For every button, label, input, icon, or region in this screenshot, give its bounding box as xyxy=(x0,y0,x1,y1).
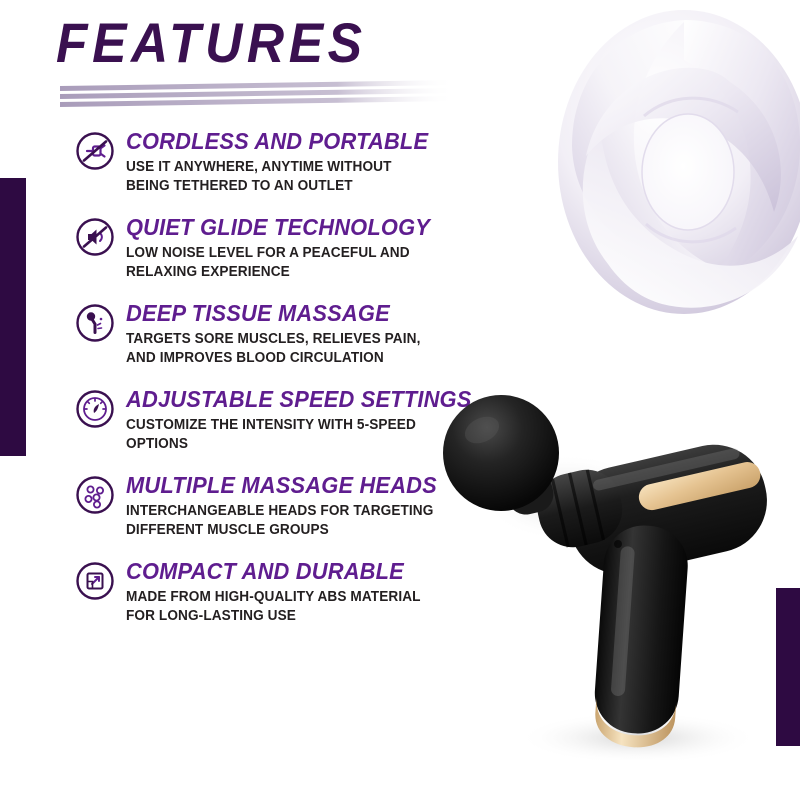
mute-speaker-icon xyxy=(74,216,116,258)
title-underline-rules xyxy=(58,78,458,112)
feature-text: COMPACT AND DURABLE MADE FROM HIGH-QUALI… xyxy=(126,558,474,626)
feature-item: DEEP TISSUE MASSAGE TARGETS SORE MUSCLES… xyxy=(74,300,474,368)
abstract-swirl-graphic xyxy=(548,0,800,326)
massage-gun-icon xyxy=(74,302,116,344)
no-cord-icon xyxy=(74,130,116,172)
speedometer-icon xyxy=(74,388,116,430)
feature-heading: DEEP TISSUE MASSAGE xyxy=(126,301,457,326)
feature-description: MADE FROM HIGH-QUALITY ABS MATERIAL FOR … xyxy=(126,588,436,626)
feature-description: LOW NOISE LEVEL FOR A PEACEFUL AND RELAX… xyxy=(126,244,436,282)
compact-resize-icon xyxy=(74,560,116,602)
right-accent-bar xyxy=(776,588,800,746)
features-infographic: FEATURES xyxy=(0,0,800,800)
page-title-block: FEATURES xyxy=(56,14,476,72)
feature-item: ADJUSTABLE SPEED SETTINGS CUSTOMIZE THE … xyxy=(74,386,474,454)
feature-heading: QUIET GLIDE TECHNOLOGY xyxy=(126,215,457,240)
feature-text: DEEP TISSUE MASSAGE TARGETS SORE MUSCLES… xyxy=(126,300,474,368)
feature-list: CORDLESS AND PORTABLE USE IT ANYWHERE, A… xyxy=(74,128,474,644)
feature-description: CUSTOMIZE THE INTENSITY WITH 5-SPEED OPT… xyxy=(126,416,436,454)
feature-text: CORDLESS AND PORTABLE USE IT ANYWHERE, A… xyxy=(126,128,474,196)
feature-heading: CORDLESS AND PORTABLE xyxy=(126,129,457,154)
left-accent-bar xyxy=(0,178,26,456)
feature-heading: COMPACT AND DURABLE xyxy=(126,559,457,584)
feature-item: COMPACT AND DURABLE MADE FROM HIGH-QUALI… xyxy=(74,558,474,626)
feature-description: TARGETS SORE MUSCLES, RELIEVES PAIN, AND… xyxy=(126,330,436,368)
feature-text: QUIET GLIDE TECHNOLOGY LOW NOISE LEVEL F… xyxy=(126,214,474,282)
feature-text: MULTIPLE MASSAGE HEADS INTERCHANGEABLE H… xyxy=(126,472,474,540)
massage-heads-icon xyxy=(74,474,116,516)
feature-text: ADJUSTABLE SPEED SETTINGS CUSTOMIZE THE … xyxy=(126,386,490,454)
feature-item: CORDLESS AND PORTABLE USE IT ANYWHERE, A… xyxy=(74,128,474,196)
feature-item: MULTIPLE MASSAGE HEADS INTERCHANGEABLE H… xyxy=(74,472,474,540)
feature-description: INTERCHANGEABLE HEADS FOR TARGETING DIFF… xyxy=(126,502,436,540)
page-title: FEATURES xyxy=(56,14,442,72)
feature-heading: MULTIPLE MASSAGE HEADS xyxy=(126,473,457,498)
feature-description: USE IT ANYWHERE, ANYTIME WITHOUT BEING T… xyxy=(126,158,436,196)
feature-item: QUIET GLIDE TECHNOLOGY LOW NOISE LEVEL F… xyxy=(74,214,474,282)
feature-heading: ADJUSTABLE SPEED SETTINGS xyxy=(126,387,472,412)
